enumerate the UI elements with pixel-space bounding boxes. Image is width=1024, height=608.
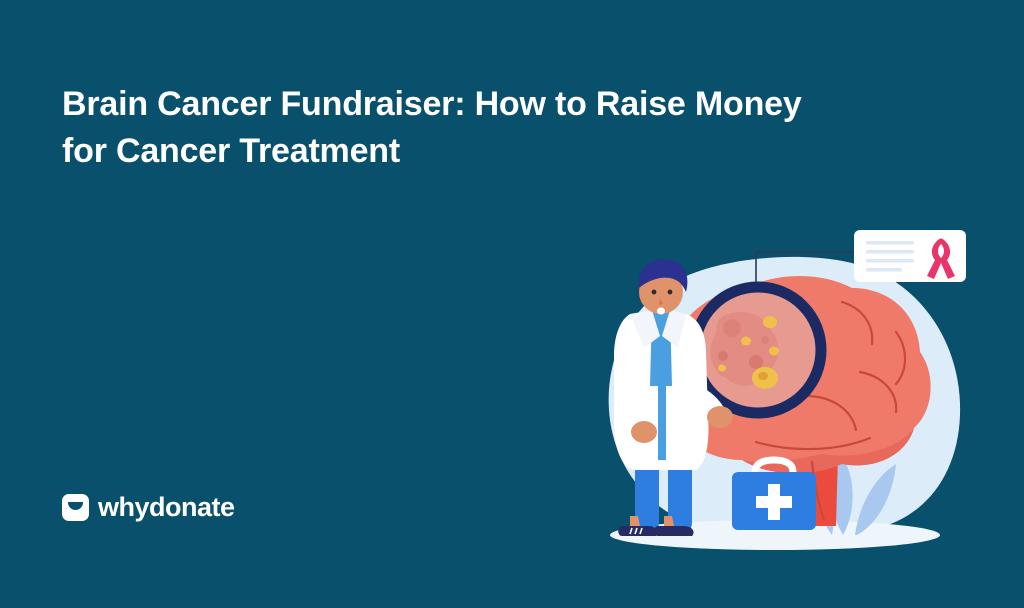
tumor-spot xyxy=(718,365,726,372)
doctor-shoe-right xyxy=(654,526,693,536)
brand-logo[interactable]: whydonate xyxy=(62,494,235,521)
tumor-spot xyxy=(763,316,777,328)
brand-logo-label: whydonate xyxy=(98,494,235,521)
doctor-hand-right xyxy=(707,406,733,428)
hero-illustration: Doctor in white lab coat holding a large… xyxy=(560,210,980,560)
tumor-spot xyxy=(769,347,779,356)
doctor-shoe-left xyxy=(618,526,657,536)
tumor-spot xyxy=(741,337,751,346)
doctor-hand-left xyxy=(631,421,657,443)
page-title: Brain Cancer Fundraiser: How to Raise Mo… xyxy=(62,81,852,175)
banner-root: Brain Cancer Fundraiser: How to Raise Mo… xyxy=(0,0,1024,608)
info-card xyxy=(854,230,966,282)
whydonate-bowl-mark-icon xyxy=(62,494,89,521)
